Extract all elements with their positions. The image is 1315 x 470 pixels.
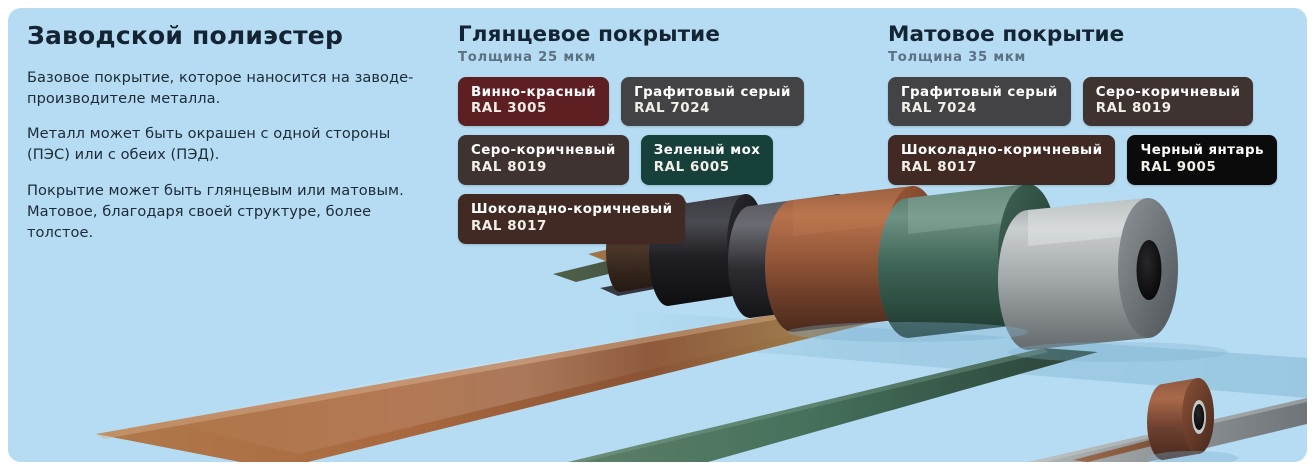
glossy-thickness: Толщина 25 мкм [458,50,878,65]
chip-ral-code: RAL 8019 [471,160,616,176]
chip-color-name: Шоколадно-коричневый [471,202,672,218]
intro-paragraph-2: Металл может быть окрашен с одной сторон… [27,124,432,166]
intro-column: Заводской полиэстер Базовое покрытие, ко… [27,22,432,244]
chip-color-name: Графитовый серый [634,85,791,101]
coating-info-card: Заводской полиэстер Базовое покрытие, ко… [8,8,1307,462]
chip-color-name: Зеленый мох [654,143,761,159]
color-chip[interactable]: Зеленый мох RAL 6005 [641,135,774,185]
matte-coating-column: Матовое покрытие Толщина 35 мкм Графитов… [888,22,1288,185]
matte-color-list: Графитовый серый RAL 7024 Серо-коричневы… [888,77,1288,185]
chip-ral-code: RAL 8017 [471,219,672,235]
glossy-coating-column: Глянцевое покрытие Толщина 25 мкм Винно-… [458,22,878,244]
color-chip[interactable]: Шоколадно-коричневый RAL 8017 [458,194,685,244]
page-root: Заводской полиэстер Базовое покрытие, ко… [0,0,1315,470]
color-chip[interactable]: Шоколадно-коричневый RAL 8017 [888,135,1115,185]
color-chip[interactable]: Серо-коричневый RAL 8019 [458,135,629,185]
chip-ral-code: RAL 8017 [901,160,1102,176]
glossy-color-list: Винно-красный RAL 3005 Графитовый серый … [458,77,878,244]
color-chip[interactable]: Серо-коричневый RAL 8019 [1083,77,1254,127]
color-chip[interactable]: Черный янтарь RAL 9005 [1127,135,1276,185]
chip-color-name: Графитовый серый [901,85,1058,101]
chip-ral-code: RAL 7024 [901,101,1058,117]
matte-title: Матовое покрытие [888,22,1288,48]
matte-thickness: Толщина 35 мкм [888,50,1288,65]
intro-paragraph-1: Базовое покрытие, которое наносится на з… [27,68,432,110]
chip-ral-code: RAL 6005 [654,160,761,176]
intro-paragraph-3: Покрытие может быть глянцевым или матовы… [27,181,432,244]
chip-ral-code: RAL 9005 [1140,160,1263,176]
chip-ral-code: RAL 7024 [634,101,791,117]
chip-ral-code: RAL 3005 [471,101,596,117]
glossy-title: Глянцевое покрытие [458,22,878,48]
page-title: Заводской полиэстер [27,22,432,51]
color-chip[interactable]: Графитовый серый RAL 7024 [621,77,804,127]
chip-color-name: Шоколадно-коричневый [901,143,1102,159]
chip-color-name: Винно-красный [471,85,596,101]
chip-color-name: Серо-коричневый [1096,85,1241,101]
chip-ral-code: RAL 8019 [1096,101,1241,117]
chip-color-name: Черный янтарь [1140,143,1263,159]
color-chip[interactable]: Графитовый серый RAL 7024 [888,77,1071,127]
chip-color-name: Серо-коричневый [471,143,616,159]
color-chip[interactable]: Винно-красный RAL 3005 [458,77,609,127]
